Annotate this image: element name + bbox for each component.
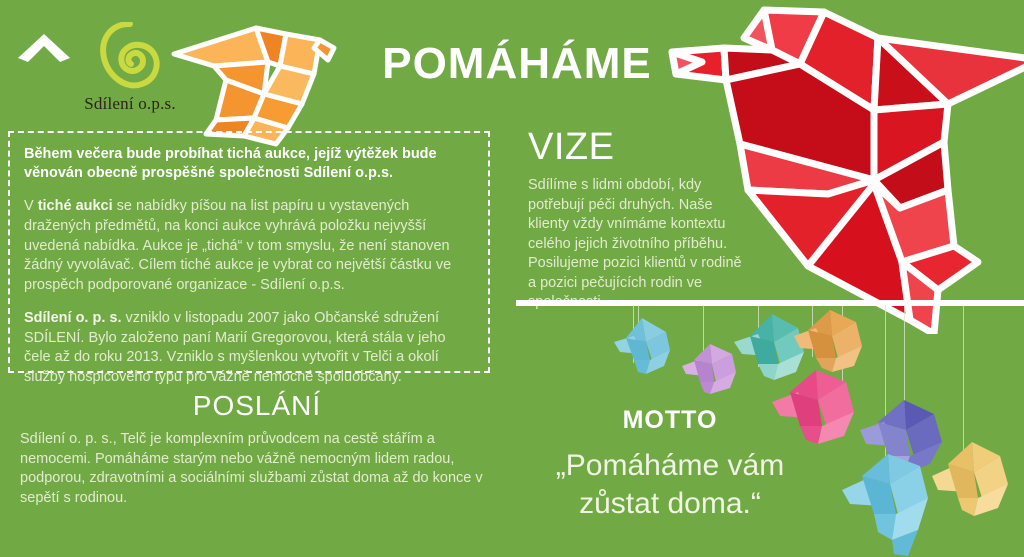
spiral-icon <box>98 22 162 92</box>
motto-quote-text: „Pomáháme vám zůstat doma.“ <box>520 447 820 522</box>
para2-prefix: V <box>24 198 38 214</box>
motto-heading: MOTTO <box>520 408 820 433</box>
hanging-string <box>904 305 905 411</box>
vize-section: VIZE Sdílíme s lidmi období, kdy potřebu… <box>528 128 743 313</box>
auction-paragraph-3: Sdílení o. p. s. vzniklo v listopadu 200… <box>24 309 474 388</box>
mobile-hanging-bar <box>516 300 1024 306</box>
origami-bird-sky-icon <box>840 452 940 557</box>
hanging-string <box>963 305 964 460</box>
vize-heading: VIZE <box>528 128 743 166</box>
auction-lead-text: Během večera bude probíhat tichá aukce, … <box>24 145 474 183</box>
poslani-body-text: Sdílení o. p. s., Telč je komplexním prů… <box>8 430 506 509</box>
page-title: POMÁHÁME <box>352 41 682 87</box>
origami-bird-yellow-icon <box>930 440 1018 522</box>
origami-bird-light-blue-icon <box>612 316 684 378</box>
auction-info-box: Během večera bude probíhat tichá aukce, … <box>8 131 490 373</box>
motto-section: MOTTO „Pomáháme vám zůstat doma.“ <box>520 408 820 522</box>
para2-bold: tiché aukci <box>38 198 113 214</box>
auction-paragraph-2: V tiché aukci se nabídky píšou na list p… <box>24 197 474 296</box>
para3-bold: Sdílení o. p. s. <box>24 310 122 326</box>
vize-body-text: Sdílíme s lidmi období, kdy potřebují pé… <box>528 176 743 313</box>
infographic-page: Sdílení o.p.s. POMÁHÁME <box>0 0 1024 557</box>
poslani-heading: POSLÁNÍ <box>8 392 506 420</box>
poslani-section: POSLÁNÍ Sdílení o. p. s., Telč je komple… <box>8 392 506 509</box>
